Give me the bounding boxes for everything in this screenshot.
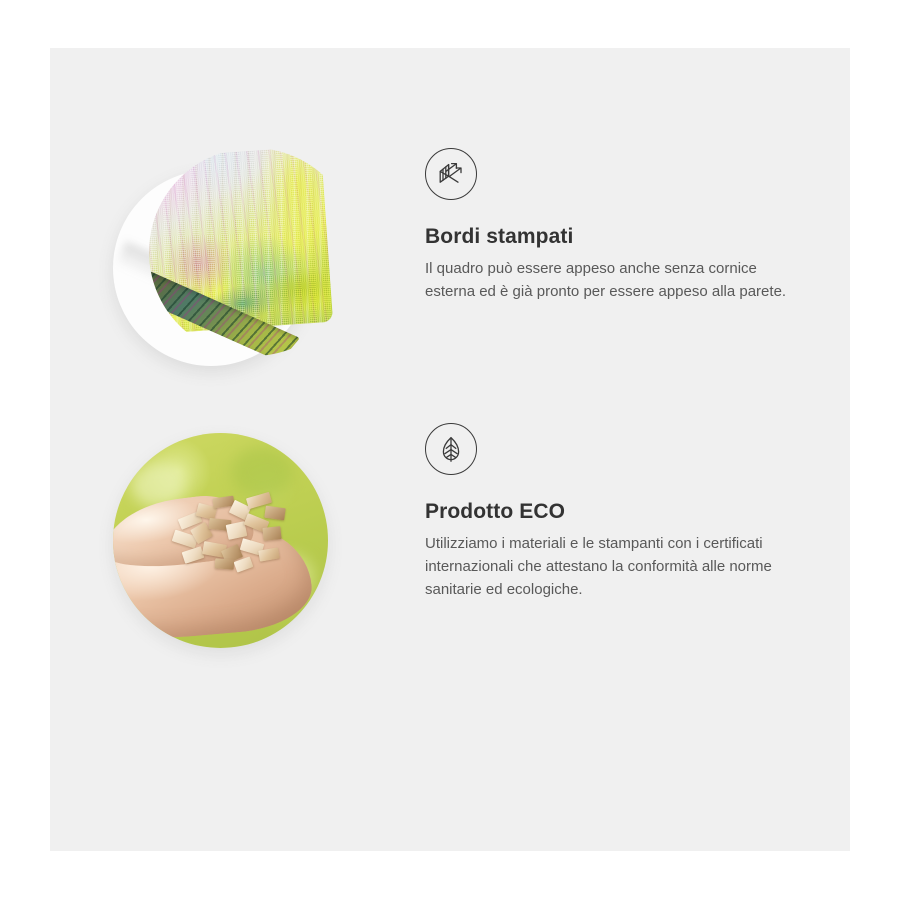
leaf-icon xyxy=(425,423,477,475)
feature-description: Utilizziamo i materiali e le stampanti c… xyxy=(425,533,787,601)
feature-printed-edges: Bordi stampati Il quadro può essere appe… xyxy=(50,148,850,448)
content-panel: Bordi stampati Il quadro può essere appe… xyxy=(50,48,850,851)
feature-copy: Prodotto ECO Utilizziamo i materiali e l… xyxy=(425,423,810,602)
canvas-scene xyxy=(105,148,335,378)
feature-eco-product: Prodotto ECO Utilizziamo i materiali e l… xyxy=(50,423,850,743)
bokeh-blob xyxy=(231,447,293,497)
eco-circle-photo xyxy=(113,433,328,648)
canvas-corner-image xyxy=(105,148,335,378)
canvas-wrapped-edges-icon xyxy=(425,148,477,200)
eco-wood-chips-image xyxy=(105,423,335,653)
feature-title: Prodotto ECO xyxy=(425,499,810,524)
wood-chips-pile xyxy=(169,493,295,575)
feature-description: Il quadro può essere appeso anche senza … xyxy=(425,258,787,304)
feature-title: Bordi stampati xyxy=(425,224,810,249)
product-feature-graphic: Bordi stampati Il quadro può essere appe… xyxy=(0,0,900,900)
feature-copy: Bordi stampati Il quadro può essere appe… xyxy=(425,148,810,304)
